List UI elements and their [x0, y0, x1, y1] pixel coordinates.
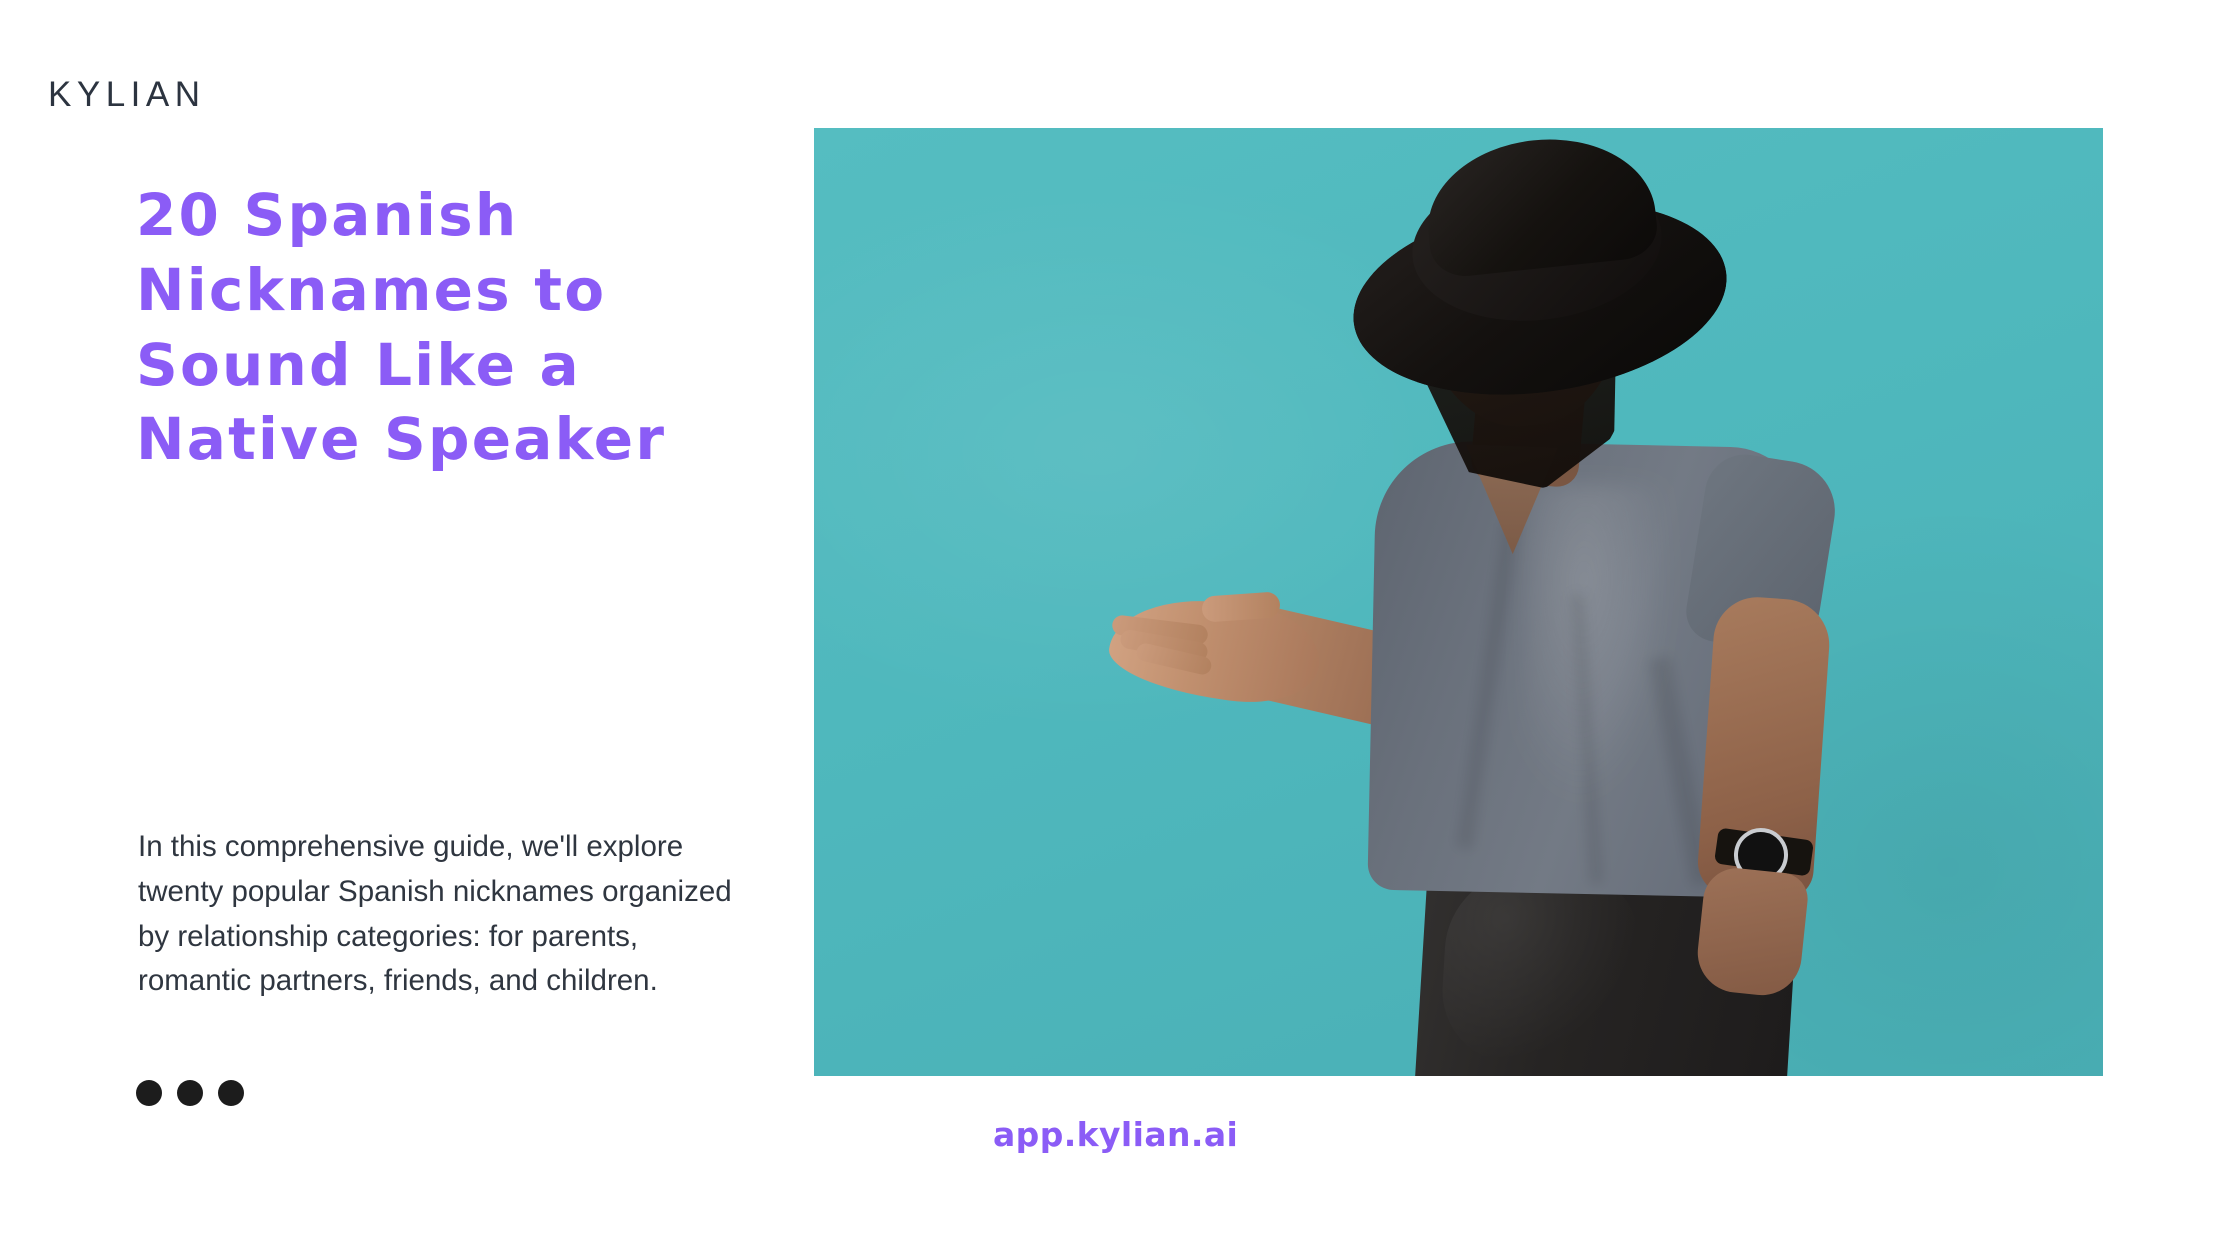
hero-photo — [814, 128, 2103, 1076]
page-title: 20 Spanish Nicknames to Sound Like a Nat… — [136, 178, 776, 477]
dot-icon — [218, 1080, 244, 1106]
tshirt-highlight — [1519, 483, 1676, 806]
hand-thumb — [1201, 591, 1281, 622]
slide-canvas: KYLIAN 20 Spanish Nicknames to Sound Lik… — [0, 0, 2240, 1260]
dots-decoration — [136, 1080, 244, 1106]
subject-right-hand — [1694, 865, 1810, 999]
dot-icon — [136, 1080, 162, 1106]
fedora-crown — [1420, 128, 1660, 279]
tshirt-fold — [1456, 520, 1519, 849]
photo-subject — [814, 128, 2103, 1076]
brand-logo: KYLIAN — [48, 76, 206, 115]
site-url[interactable]: app.kylian.ai — [993, 1115, 1238, 1154]
body-paragraph: In this comprehensive guide, we'll explo… — [138, 825, 753, 1004]
dot-icon — [177, 1080, 203, 1106]
